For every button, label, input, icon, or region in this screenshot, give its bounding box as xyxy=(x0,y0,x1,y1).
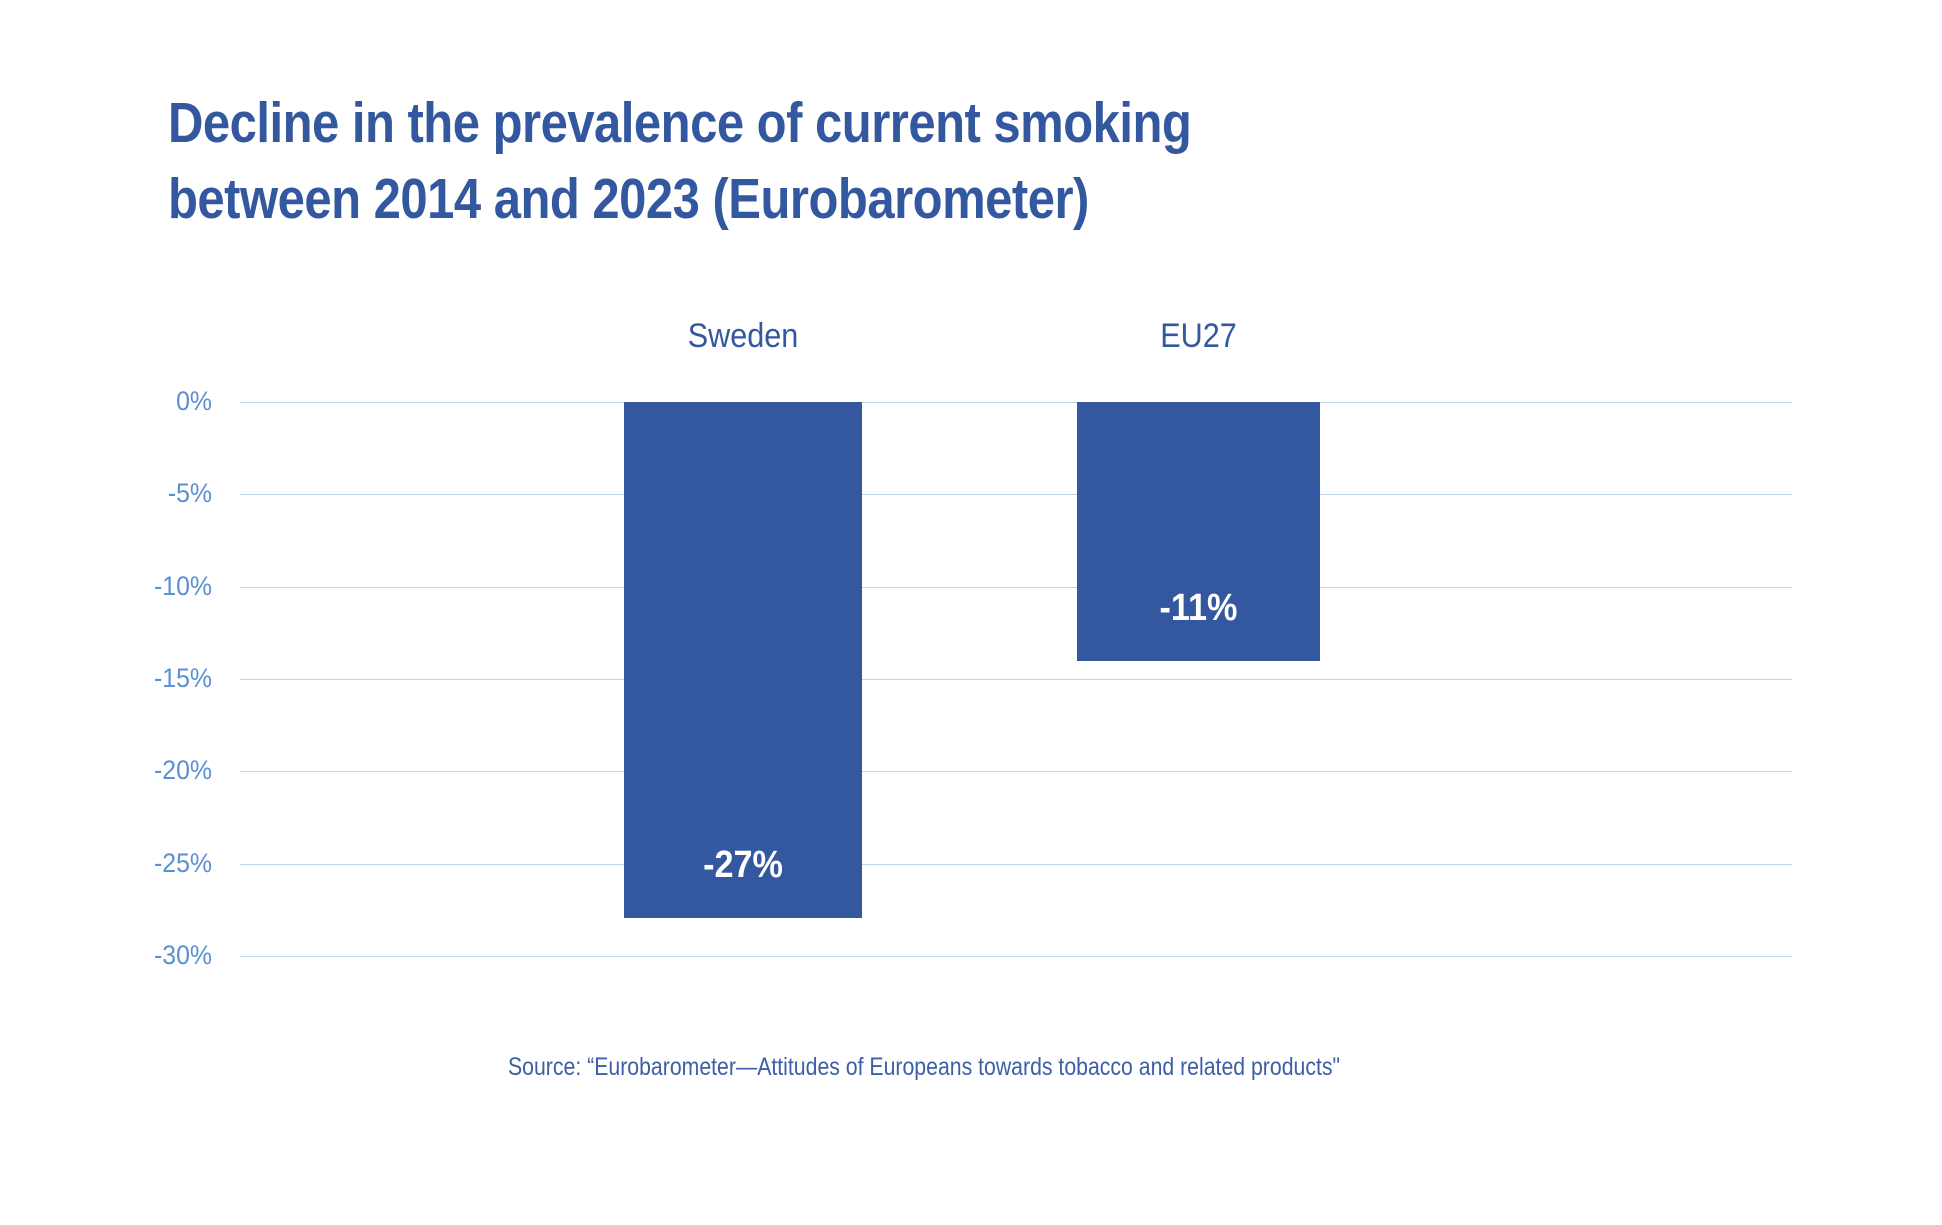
gridline xyxy=(240,494,1792,495)
gridline xyxy=(240,402,1792,403)
gridline xyxy=(240,587,1792,588)
gridline xyxy=(240,771,1792,772)
gridline xyxy=(240,864,1792,865)
y-tick-label: -5% xyxy=(109,480,212,507)
bar-sweden[interactable]: -27% xyxy=(624,402,862,918)
bar-eu27[interactable]: -11% xyxy=(1077,402,1320,661)
category-axis-labels: SwedenEU27 xyxy=(240,315,1792,361)
plot-area: -27%-11% xyxy=(240,402,1792,956)
y-tick-label: -25% xyxy=(109,850,212,877)
bar-value-label: -27% xyxy=(636,846,850,884)
gridline xyxy=(240,956,1792,957)
category-label-sweden: Sweden xyxy=(636,315,850,357)
category-label-eu27: EU27 xyxy=(1089,315,1308,357)
chart-title: Decline in the prevalence of current smo… xyxy=(168,85,1372,237)
source-note: Source: “Eurobarometer—Attitudes of Euro… xyxy=(508,1051,1340,1083)
y-axis-tick-labels: 0%-5%-10%-15%-20%-25%-30% xyxy=(100,402,212,956)
y-tick-label: -20% xyxy=(109,757,212,784)
y-tick-label: -10% xyxy=(109,573,212,600)
bar-value-label: -11% xyxy=(1089,589,1308,627)
gridline xyxy=(240,679,1792,680)
y-tick-label: -15% xyxy=(109,665,212,692)
y-tick-label: -30% xyxy=(109,942,212,969)
y-tick-label: 0% xyxy=(109,388,212,415)
